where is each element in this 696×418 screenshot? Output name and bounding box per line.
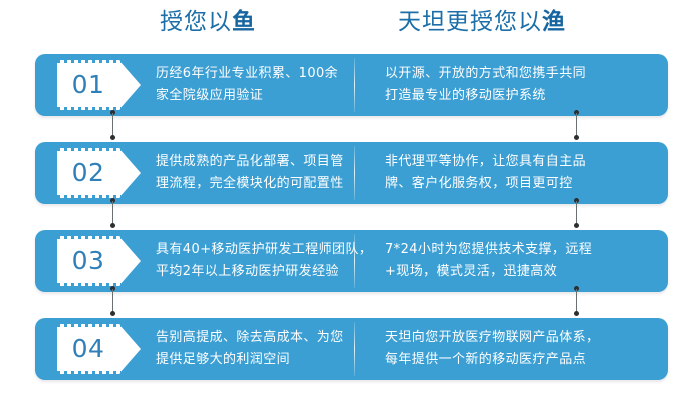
row-right-text: 天坦向您开放医疗物联网产品体系， 每年提供一个新的移动医疗产品点	[385, 327, 657, 371]
benefit-row: 04 告别高提成、除去高成本、为您 提供足够大的利润空间 天坦向您开放医疗物联网…	[35, 318, 668, 380]
row-right-line-2: 打造最专业的移动医护系统	[385, 85, 657, 107]
column-divider	[354, 146, 355, 200]
connector-dot-bottom	[110, 311, 115, 316]
row-left-line-2: 家全院级应用验证	[156, 85, 352, 107]
row-left-text: 告别高提成、除去高成本、为您 提供足够大的利润空间	[156, 327, 352, 371]
row-left-line-1: 提供成熟的产品化部署、项目管	[156, 151, 352, 173]
row-left-line-2: 提供足够大的利润空间	[156, 349, 352, 371]
row-left-text: 提供成熟的产品化部署、项目管 理流程，完全模块化的可配置性	[156, 151, 352, 195]
column-divider	[354, 322, 355, 376]
connector-stem	[576, 289, 577, 313]
row-right-line-1: 以开源、开放的方式和您携手共同	[385, 63, 657, 85]
badge-number-label: 03	[57, 236, 119, 286]
row-left-line-1: 具有40+移动医护研发工程师团队，	[156, 239, 352, 261]
heading-right-accent: 渔	[542, 9, 566, 35]
row-right-text: 以开源、开放的方式和您携手共同 打造最专业的移动医护系统	[385, 63, 657, 107]
connector-stem	[112, 201, 113, 225]
heading-left-accent: 鱼	[232, 9, 256, 35]
row-right-line-2: +现场，模式灵活，迅捷高效	[385, 261, 657, 283]
row-connector-icon	[575, 110, 578, 140]
row-left-line-2: 理流程，完全模块化的可配置性	[156, 173, 352, 195]
badge-number-label: 02	[57, 148, 119, 198]
row-left-text: 历经6年行业专业积累、100余 家全院级应用验证	[156, 63, 352, 107]
connector-dot-bottom	[574, 311, 579, 316]
connector-stem	[112, 113, 113, 137]
row-right-text: 非代理平等协作，让您具有自主品 牌、客户化服务权，项目更可控	[385, 151, 657, 195]
heading-right-prefix: 天坦更授您以	[398, 9, 542, 35]
connector-dot-bottom	[574, 135, 579, 140]
row-connector-icon	[111, 110, 114, 140]
connector-stem	[576, 201, 577, 225]
row-connector-icon	[575, 198, 578, 228]
row-left-line-2: 平均2年以上移动医护研发经验	[156, 261, 352, 283]
benefit-row: 03 具有40+移动医护研发工程师团队， 平均2年以上移动医护研发经验 7*24…	[35, 230, 668, 292]
heading-left-prefix: 授您以	[160, 9, 232, 35]
row-right-line-1: 天坦向您开放医疗物联网产品体系，	[385, 327, 657, 349]
row-right-text: 7*24小时为您提供技术支撑，远程 +现场，模式灵活，迅捷高效	[385, 239, 657, 283]
benefit-row: 01 历经6年行业专业积累、100余 家全院级应用验证 以开源、开放的方式和您携…	[35, 54, 668, 116]
row-connector-icon	[111, 198, 114, 228]
column-divider	[354, 58, 355, 112]
row-right-line-2: 牌、客户化服务权，项目更可控	[385, 173, 657, 195]
benefit-rows: 01 历经6年行业专业积累、100余 家全院级应用验证 以开源、开放的方式和您携…	[0, 46, 696, 418]
row-connector-icon	[111, 286, 114, 316]
heading-left: 授您以鱼	[160, 6, 256, 38]
row-connector-icon	[575, 286, 578, 316]
row-left-text: 具有40+移动医护研发工程师团队， 平均2年以上移动医护研发经验	[156, 239, 352, 283]
connector-dot-bottom	[110, 223, 115, 228]
row-right-line-1: 7*24小时为您提供技术支撑，远程	[385, 239, 657, 261]
connector-stem	[576, 113, 577, 137]
heading-right: 天坦更授您以渔	[398, 6, 566, 38]
badge-number-label: 01	[57, 60, 119, 110]
row-left-line-1: 告别高提成、除去高成本、为您	[156, 327, 352, 349]
badge-number-label: 04	[57, 324, 119, 374]
connector-stem	[112, 289, 113, 313]
row-left-line-1: 历经6年行业专业积累、100余	[156, 63, 352, 85]
benefit-row: 02 提供成熟的产品化部署、项目管 理流程，完全模块化的可配置性 非代理平等协作…	[35, 142, 668, 204]
row-right-line-2: 每年提供一个新的移动医疗产品点	[385, 349, 657, 371]
headings-bar: 授您以鱼 天坦更授您以渔	[0, 0, 696, 46]
connector-dot-bottom	[574, 223, 579, 228]
connector-dot-bottom	[110, 135, 115, 140]
row-right-line-1: 非代理平等协作，让您具有自主品	[385, 151, 657, 173]
